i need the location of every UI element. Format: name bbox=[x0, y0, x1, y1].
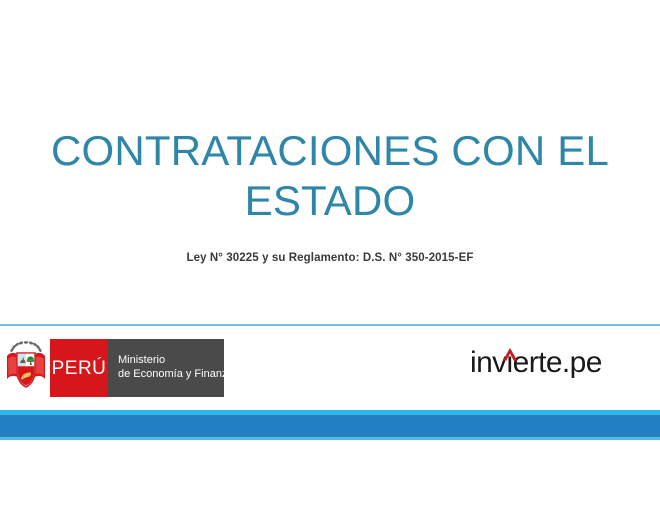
peru-label-block: PERÚ bbox=[50, 339, 108, 397]
slide-title: CONTRATACIONES CON EL ESTADO bbox=[40, 126, 620, 225]
footer-bar-blue-main bbox=[0, 415, 660, 437]
invierte-caret-icon bbox=[502, 337, 518, 350]
footer-logo-bar: PERÚ Ministerio de Economía y Finanzas i… bbox=[0, 336, 660, 400]
ministry-line-1: Ministerio bbox=[118, 354, 224, 368]
title-container: CONTRATACIONES CON EL ESTADO bbox=[40, 126, 620, 225]
presentation-slide: CONTRATACIONES CON EL ESTADO Ley N° 3022… bbox=[0, 0, 660, 510]
invierte-pe-wordmark-container: invierte.pe bbox=[470, 348, 602, 378]
invierte-pe-logo: invierte.pe bbox=[470, 348, 640, 388]
peru-label: PERÚ bbox=[52, 359, 107, 378]
ministry-label-block: Ministerio de Economía y Finanzas bbox=[108, 339, 224, 397]
slide-subtitle: Ley N° 30225 y su Reglamento: D.S. N° 35… bbox=[40, 252, 620, 264]
mef-logo: PERÚ Ministerio de Economía y Finanzas bbox=[4, 338, 224, 398]
invierte-pe-text: invierte.pe bbox=[470, 346, 602, 379]
footer-bar-cyan-bottom bbox=[0, 437, 660, 440]
subtitle-container: Ley N° 30225 y su Reglamento: D.S. N° 35… bbox=[40, 252, 620, 264]
peru-coat-of-arms-icon bbox=[4, 338, 48, 398]
ministry-line-2: de Economía y Finanzas bbox=[118, 368, 224, 382]
header-divider-line bbox=[0, 324, 660, 326]
